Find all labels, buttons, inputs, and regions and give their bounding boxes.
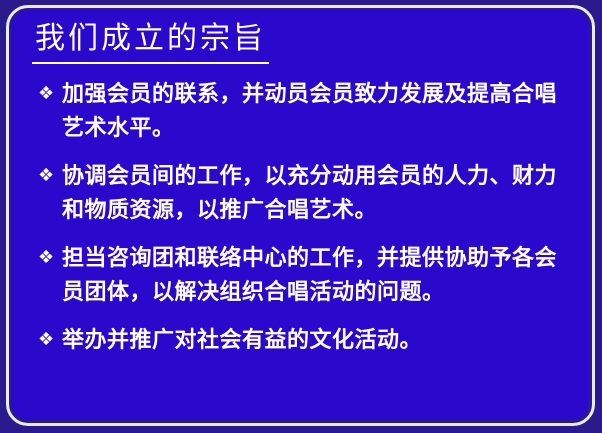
list-item-text: 担当咨询团和联络中心的工作，并提供协助予各会员团体，以解决组织合唱活动的问题。	[62, 241, 573, 309]
list-item-text: 加强会员的联系，并动员会员致力发展及提高合唱艺术水平。	[62, 77, 573, 145]
diamond-bullet-icon: ❖	[38, 159, 62, 193]
slide-root: 我们成立的宗旨 ❖ 加强会员的联系，并动员会员致力发展及提高合唱艺术水平。 ❖ …	[0, 0, 602, 433]
list-item: ❖ 加强会员的联系，并动员会员致力发展及提高合唱艺术水平。	[24, 77, 577, 145]
diamond-bullet-icon: ❖	[38, 241, 62, 275]
list-item: ❖ 担当咨询团和联络中心的工作，并提供协助予各会员团体，以解决组织合唱活动的问题…	[24, 241, 577, 309]
page-title: 我们成立的宗旨	[32, 19, 269, 64]
list-item-text: 举办并推广对社会有益的文化活动。	[62, 323, 573, 357]
list-item: ❖ 举办并推广对社会有益的文化活动。	[24, 323, 577, 357]
list-item: ❖ 协调会员间的工作，以充分动用会员的人力、财力和物质资源，以推广合唱艺术。	[24, 159, 577, 227]
content-panel-inner: 我们成立的宗旨 ❖ 加强会员的联系，并动员会员致力发展及提高合唱艺术水平。 ❖ …	[11, 10, 589, 420]
diamond-bullet-icon: ❖	[38, 77, 62, 111]
objectives-list: ❖ 加强会员的联系，并动员会员致力发展及提高合唱艺术水平。 ❖ 协调会员间的工作…	[24, 77, 577, 357]
diamond-bullet-icon: ❖	[38, 323, 62, 357]
list-item-text: 协调会员间的工作，以充分动用会员的人力、财力和物质资源，以推广合唱艺术。	[62, 159, 573, 227]
content-panel: 我们成立的宗旨 ❖ 加强会员的联系，并动员会员致力发展及提高合唱艺术水平。 ❖ …	[11, 10, 589, 420]
